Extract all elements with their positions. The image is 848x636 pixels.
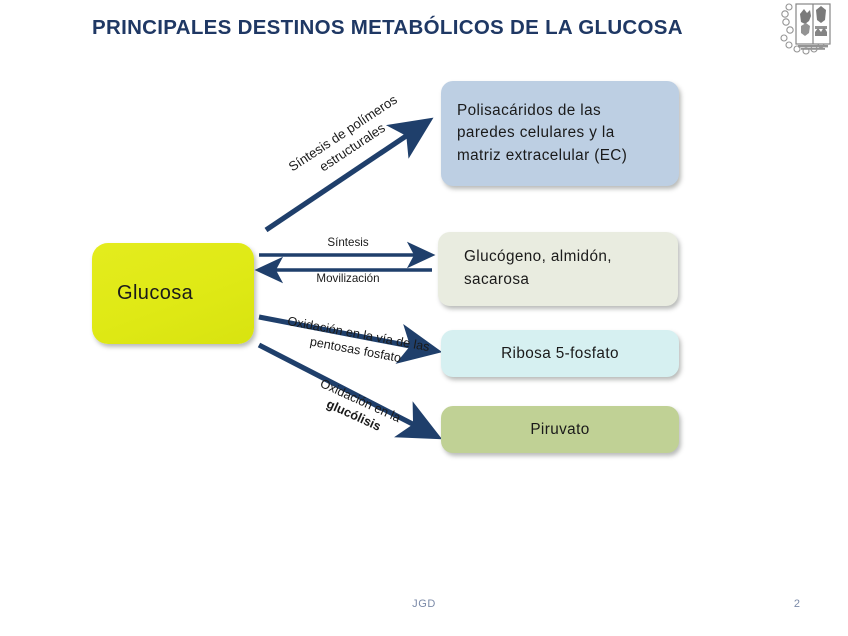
arrow-label-sintesis: Síntesis — [288, 236, 408, 251]
node-glucosa-label: Glucosa — [117, 282, 254, 305]
footer-author: JGD — [0, 598, 848, 610]
arrow-label-oxidacion-glucolisis: Oxidación en laglucólisis — [282, 362, 432, 454]
arrow-label-movilizacion: Movilización — [278, 272, 418, 287]
node-ribosa-5-fosfato[interactable]: Ribosa 5-fosfato — [441, 330, 679, 377]
arrow-label-oxidacion-pentosas: Oxidación en la vía de las pentosas fosf… — [261, 309, 454, 375]
university-coat-of-arms-logo — [768, 0, 840, 56]
node-polisacaridos-label: Polisacáridos de las paredes celulares y… — [457, 100, 663, 168]
arrow-label-sintesis-polimeros: Síntesis de polímeros estructurales — [264, 77, 433, 205]
node-glucogeno[interactable]: Glucógeno, almidón, sacarosa — [438, 232, 678, 306]
node-glucogeno-label: Glucógeno, almidón, sacarosa — [464, 246, 662, 291]
footer-page-number: 2 — [794, 598, 800, 610]
node-ribosa-label: Ribosa 5-fosfato — [457, 345, 663, 363]
page-title: PRINCIPALES DESTINOS METABÓLICOS DE LA G… — [92, 16, 732, 40]
node-polisacaridos[interactable]: Polisacáridos de las paredes celulares y… — [441, 81, 679, 186]
node-piruvato-label: Piruvato — [457, 421, 663, 439]
node-glucosa[interactable]: Glucosa — [92, 243, 254, 344]
node-piruvato[interactable]: Piruvato — [441, 406, 679, 453]
slide-canvas: PRINCIPALES DESTINOS METABÓLICOS DE LA G… — [0, 0, 848, 636]
